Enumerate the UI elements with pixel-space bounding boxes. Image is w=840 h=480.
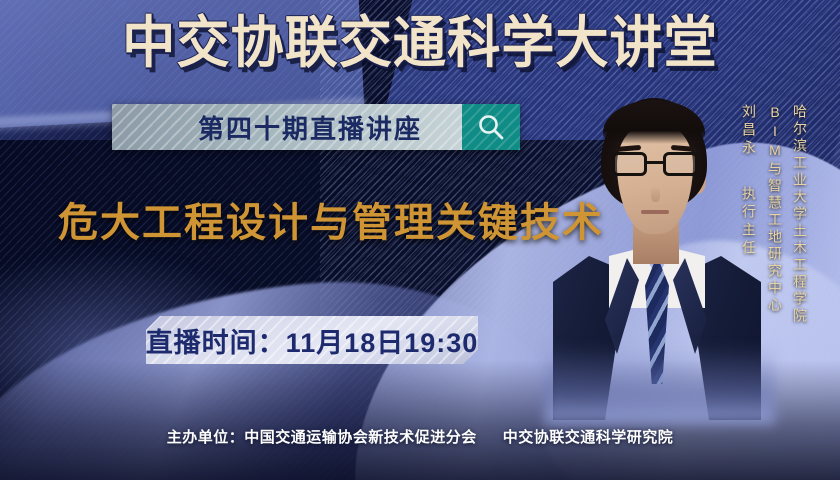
speaker-school: 哈尔滨工业大学土木工程学院 xyxy=(793,104,807,325)
lecture-headline: 危大工程设计与管理关键技术 xyxy=(58,190,604,248)
nose xyxy=(651,186,660,202)
episode-label-wrap: 第四十期直播讲座 xyxy=(112,104,462,150)
glasses-bridge xyxy=(647,161,663,164)
speaker-center: BIM与智慧工地研究中心 xyxy=(768,104,782,314)
glasses-icon xyxy=(609,152,701,176)
hair-fringe xyxy=(603,100,705,144)
speaker-name: 刘昌永 xyxy=(742,104,756,158)
search-icon[interactable] xyxy=(462,104,520,150)
organizer-primary: 中国交通运输协会新技术促进分会 xyxy=(244,429,477,446)
speaker-role: 执行主任 xyxy=(742,186,756,258)
episode-bar: 第四十期直播讲座 xyxy=(112,104,520,150)
speaker-portrait xyxy=(565,88,747,418)
portrait-bottom-fade xyxy=(545,344,775,424)
organizer-label: 主办单位： xyxy=(167,429,245,446)
episode-label: 第四十期直播讲座 xyxy=(198,109,422,146)
footer-organizers: 主办单位：中国交通运输协会新技术促进分会中交协联交通科学研究院 xyxy=(0,426,840,447)
lens-left xyxy=(612,152,647,176)
webinar-poster: 中交协联交通科学大讲堂 第四十期直播讲座 危大工程设计与管理关键技术 直播时间：… xyxy=(0,0,840,480)
broadcast-time-badge: 直播时间：11月18日19:30 xyxy=(146,316,478,364)
mouth xyxy=(641,210,669,214)
broadcast-time-label: 直播时间：11月18日19:30 xyxy=(146,321,478,360)
organizer-secondary: 中交协联交通科学研究院 xyxy=(503,429,674,446)
page-title: 中交协联交通科学大讲堂 xyxy=(21,16,819,72)
lens-right xyxy=(663,152,698,176)
